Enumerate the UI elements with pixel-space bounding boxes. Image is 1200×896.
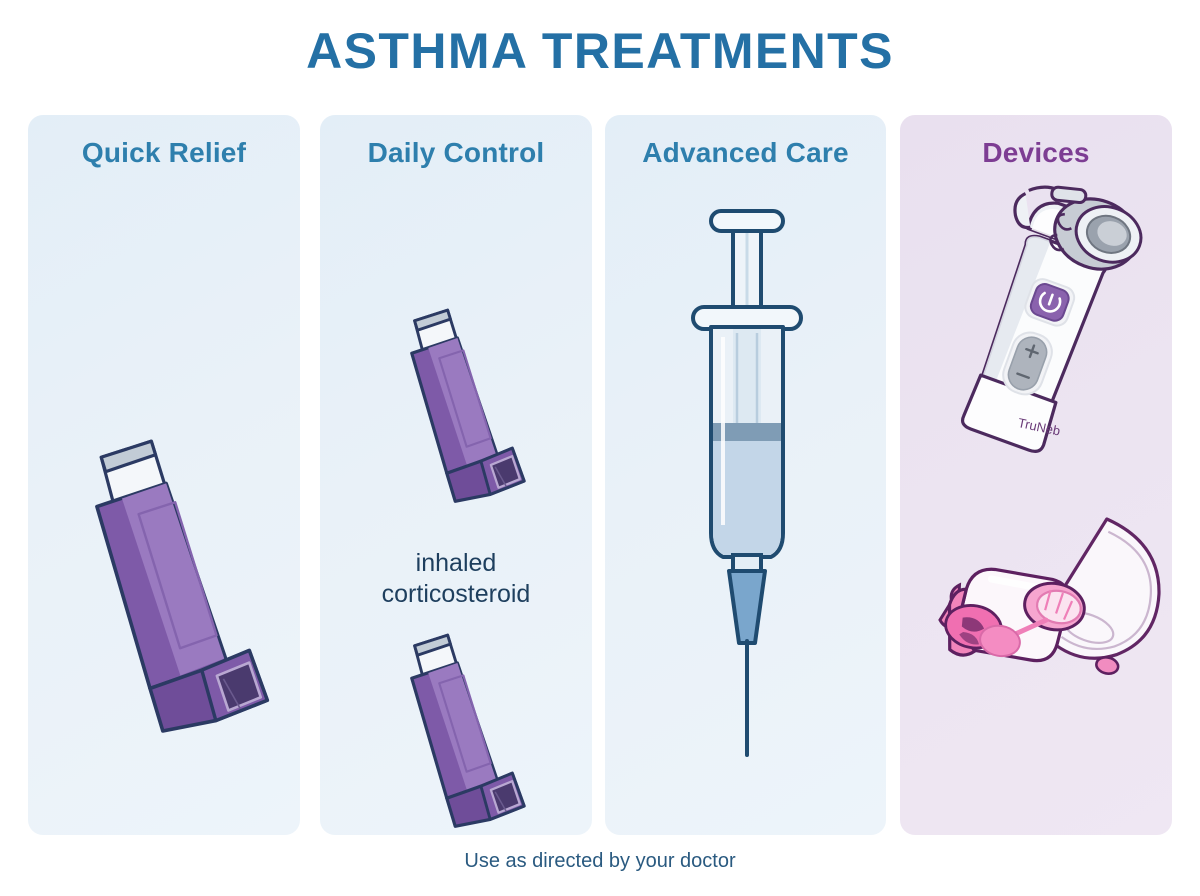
- column-title-quick-relief: Quick Relief: [28, 137, 300, 169]
- footer-disclaimer: Use as directed by your doctor: [0, 850, 1200, 873]
- page-title: ASTHMA TREATMENTS: [0, 22, 1200, 80]
- column-devices: Devices TruNeb: [900, 115, 1172, 835]
- poster-canvas: ASTHMA TREATMENTS Quick Relief: [0, 0, 1200, 896]
- column-quick-relief: Quick Relief: [28, 115, 300, 835]
- column-title-advanced-care: Advanced Care: [605, 137, 886, 169]
- column-title-devices: Devices: [900, 137, 1172, 169]
- metered-dose-inhaler-icon: [394, 630, 518, 830]
- column-advanced-care: Advanced Care: [605, 115, 886, 835]
- column-middle-label-daily-control: inhaled corticosteroid: [326, 548, 586, 610]
- portable-mesh-nebulizer-icon: TruNeb: [918, 185, 1162, 475]
- nebulizer-cup-mask-icon: [920, 485, 1162, 775]
- column-title-daily-control: Daily Control: [320, 137, 592, 169]
- column-daily-control: Daily Control inhaled corticosteroid: [320, 115, 592, 835]
- metered-dose-inhaler-icon: [70, 435, 258, 735]
- metered-dose-inhaler-icon: [394, 305, 518, 505]
- syringe-icon: [667, 195, 827, 795]
